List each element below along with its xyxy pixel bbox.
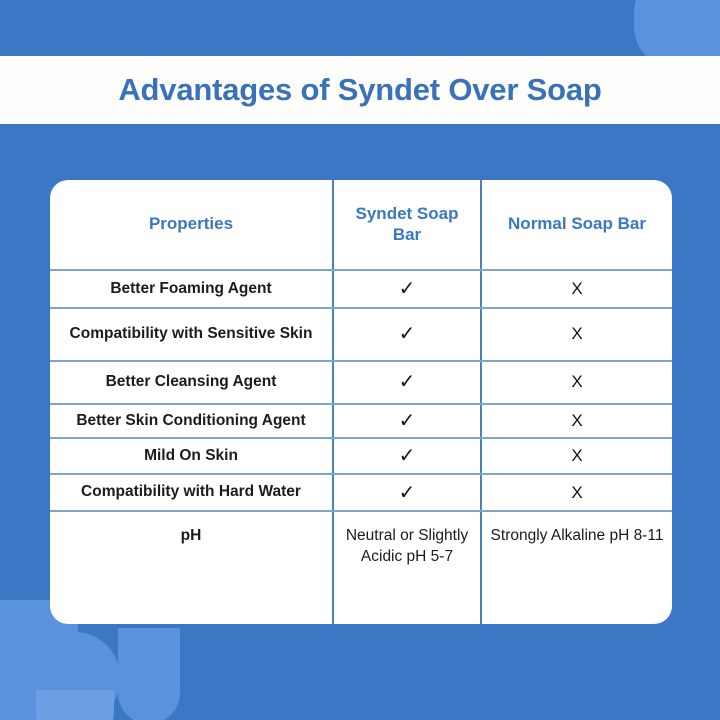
table-row: pH Neutral or Slightly Acidic pH 5-7 Str…: [50, 511, 672, 624]
check-icon: ✓: [333, 270, 481, 308]
title-band: Advantages of Syndet Over Soap: [0, 56, 720, 124]
table-row: Compatibility with Sensitive Skin ✓ X: [50, 308, 672, 361]
cell-property: pH: [50, 511, 333, 624]
check-icon: ✓: [333, 361, 481, 404]
cross-icon: X: [481, 474, 672, 511]
cell-syndet-ph-value: Neutral or Slightly Acidic pH 5-7: [333, 511, 481, 624]
comparison-table: Properties Syndet Soap Bar Normal Soap B…: [50, 180, 672, 624]
cross-icon: X: [481, 438, 672, 474]
check-icon: ✓: [333, 404, 481, 438]
decorative-blob-bottom-left-5: [36, 690, 114, 720]
cell-property: Mild On Skin: [50, 438, 333, 474]
check-icon: ✓: [333, 308, 481, 361]
cell-property: Better Skin Conditioning Agent: [50, 404, 333, 438]
column-header-syndet-soap-bar: Syndet Soap Bar: [333, 180, 481, 270]
table-header: Properties Syndet Soap Bar Normal Soap B…: [50, 180, 672, 270]
infographic-canvas: Advantages of Syndet Over Soap Propertie…: [0, 0, 720, 720]
column-header-normal-soap-bar: Normal Soap Bar: [481, 180, 672, 270]
check-icon: ✓: [333, 474, 481, 511]
comparison-table-card: Properties Syndet Soap Bar Normal Soap B…: [50, 180, 672, 624]
check-icon: ✓: [333, 438, 481, 474]
cross-icon: X: [481, 361, 672, 404]
cell-normal-ph-value: Strongly Alkaline pH 8-11: [481, 511, 672, 624]
cross-icon: X: [481, 270, 672, 308]
table-row: Better Skin Conditioning Agent ✓ X: [50, 404, 672, 438]
cell-property: Better Foaming Agent: [50, 270, 333, 308]
cell-property: Better Cleansing Agent: [50, 361, 333, 404]
table-row: Better Cleansing Agent ✓ X: [50, 361, 672, 404]
cross-icon: X: [481, 404, 672, 438]
table-row: Mild On Skin ✓ X: [50, 438, 672, 474]
table-header-row: Properties Syndet Soap Bar Normal Soap B…: [50, 180, 672, 270]
column-header-properties: Properties: [50, 180, 333, 270]
cross-icon: X: [481, 308, 672, 361]
page-title: Advantages of Syndet Over Soap: [118, 72, 601, 108]
decorative-blob-bottom-left-4: [118, 628, 180, 720]
cell-property: Compatibility with Hard Water: [50, 474, 333, 511]
table-row: Better Foaming Agent ✓ X: [50, 270, 672, 308]
cell-property: Compatibility with Sensitive Skin: [50, 308, 333, 361]
table-row: Compatibility with Hard Water ✓ X: [50, 474, 672, 511]
table-body: Better Foaming Agent ✓ X Compatibility w…: [50, 270, 672, 624]
